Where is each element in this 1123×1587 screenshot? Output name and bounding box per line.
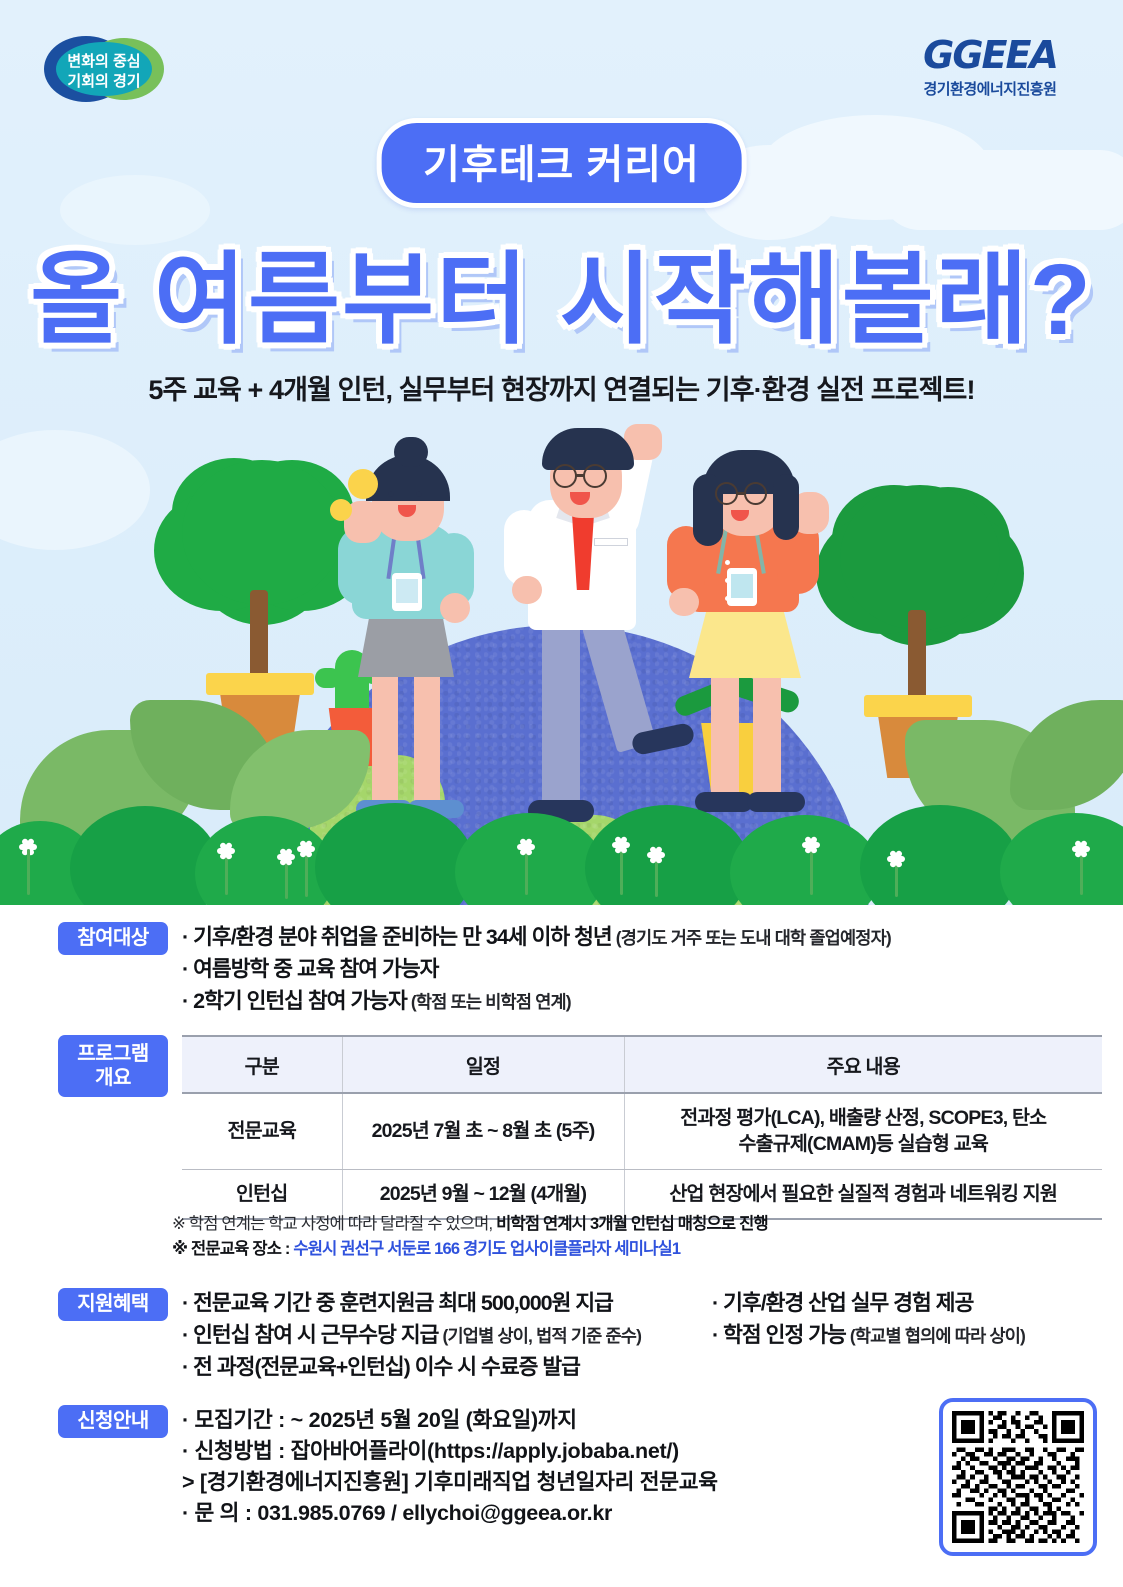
glasses-icon [583,464,607,488]
list-item-note: (기업별 상이, 법적 기준 준수) [438,1326,641,1346]
flower-icon [886,849,906,869]
illustration [0,400,1123,905]
list-item: · 기후/환경 분야 취업을 준비하는 만 34세 이하 청년 (경기도 거주 … [182,922,891,954]
flower-icon [216,841,236,861]
list-item: · 인턴십 참여 시 근무수당 지급 (기업별 상이, 법적 기준 준수) [182,1320,712,1352]
flower-icon [1071,839,1091,859]
section-apply: 신청안내 · 모집기간 : ~ 2025년 5월 20일 (화요일)까지 · 신… [58,1405,718,1529]
benefit-column-right: · 기후/환경 산업 실무 경험 제공 · 학점 인정 가능 (학교별 협의에 … [712,1288,1025,1384]
flower-icon [646,845,666,865]
hero-badge: 기후테크 커리어 [376,118,747,208]
coin-icon [348,469,378,499]
table-row: 전문교육 2025년 7월 초 ~ 8월 초 (5주) 전과정 평가(LCA),… [182,1093,1102,1169]
cell-content: 전과정 평가(LCA), 배출량 산정, SCOPE3, 탄소 수출규제(CMA… [624,1093,1102,1169]
list-item-contact[interactable]: · 문 의 : 031.985.0769 / ellychoi@ggeea.or… [182,1498,718,1529]
note1-prefix: ※ 학점 연계는 학교 사정에 따라 달라질 수 있으며, [172,1215,496,1233]
table-header-row: 구분 일정 주요 내용 [182,1036,1102,1093]
glasses-icon [553,464,577,488]
flower-icon [296,839,316,859]
list-item-note: (학점 또는 비학점 연계) [407,992,571,1012]
section-tag-apply: 신청안내 [58,1405,168,1438]
qr-code[interactable] [939,1398,1097,1556]
list-item-apply-url[interactable]: · 신청방법 : 잡아바어플라이(https://apply.jobaba.ne… [182,1436,718,1467]
flower-icon [801,835,821,855]
flower-icon [611,835,631,855]
list-item: · 여름방학 중 교육 참여 가능자 [182,954,891,986]
cell-content-line2: 수출규제(CMAM)등 실습형 교육 [739,1133,988,1155]
ggeea-logo: GGEEA 경기환경에너지진흥원 [895,34,1085,106]
list-item-strong: · 기후/환경 분야 취업을 준비하는 만 34세 이하 청년 [182,925,612,949]
person-illustration-right [665,452,845,817]
section-tag-target: 참여대상 [58,922,168,955]
table-col-schedule: 일정 [342,1036,624,1093]
section-benefit: 지원혜택 · 전문교육 기간 중 훈련지원금 최대 500,000원 지급 · … [58,1288,1025,1384]
note2-location: 수원시 권선구 서둔로 166 경기도 업사이클플라자 세미나실1 [293,1240,680,1258]
section-tag-program: 프로그램 개요 [58,1035,168,1097]
list-item: · 모집기간 : ~ 2025년 5월 20일 (화요일)까지 [182,1405,718,1436]
list-item-note: (경기도 거주 또는 도내 대학 졸업예정자) [612,928,891,948]
program-table: 구분 일정 주요 내용 전문교육 2025년 7월 초 ~ 8월 초 (5주) … [182,1035,1102,1220]
page-title: 올 여름부터 시작해볼래? [0,218,1123,363]
program-table-wrap: 구분 일정 주요 내용 전문교육 2025년 7월 초 ~ 8월 초 (5주) … [168,1035,1102,1220]
coin-icon [330,499,352,521]
list-item-note: (학교별 협의에 따라 상이) [846,1326,1025,1346]
glasses-icon [715,482,738,505]
note2-prefix: ※ 전문교육 장소 : [172,1240,293,1258]
section-tag-program-line1: 프로그램 [58,1043,168,1067]
note-line: ※ 전문교육 장소 : 수원시 권선구 서둔로 166 경기도 업사이클플라자 … [172,1237,768,1262]
info-content: 참여대상 · 기후/환경 분야 취업을 준비하는 만 34세 이하 청년 (경기… [0,905,1123,1587]
flower-icon [276,847,296,867]
apply-list: · 모집기간 : ~ 2025년 5월 20일 (화요일)까지 · 신청방법 :… [168,1405,718,1529]
benefit-column-left: · 전문교육 기간 중 훈련지원금 최대 500,000원 지급 · 인턴십 참… [182,1288,712,1384]
list-item: · 2학기 인턴십 참여 가능자 (학점 또는 비학점 연계) [182,986,891,1018]
list-item-strong: · 기후/환경 산업 실무 경험 제공 [712,1291,973,1315]
table-col-gubun: 구분 [182,1036,342,1093]
qr-code-image [952,1411,1084,1543]
list-item: > [경기환경에너지진흥원] 기후미래직업 청년일자리 전문교육 [182,1467,718,1498]
list-item: · 학점 인정 가능 (학교별 협의에 따라 상이) [712,1320,1025,1352]
list-item-strong: · 전 과정(전문교육+인턴십) 이수 시 수료증 발급 [182,1355,580,1379]
ggeea-wordmark: GGEEA [895,34,1085,76]
target-list: · 기후/환경 분야 취업을 준비하는 만 34세 이하 청년 (경기도 거주 … [168,922,891,1018]
list-item-strong: · 인턴십 참여 시 근무수당 지급 [182,1323,438,1347]
list-item-strong: · 전문교육 기간 중 훈련지원금 최대 500,000원 지급 [182,1291,613,1315]
flower-icon [516,837,536,857]
leaf-shape [1010,700,1123,810]
section-target: 참여대상 · 기후/환경 분야 취업을 준비하는 만 34세 이하 청년 (경기… [58,922,891,1018]
gyeonggi-logo-line2: 기회의 경기 [67,72,140,90]
list-item-strong: · 학점 인정 가능 [712,1323,846,1347]
list-item-strong: · 2학기 인턴십 참여 가능자 [182,989,407,1013]
section-tag-program-line2: 개요 [58,1067,168,1091]
hero-banner: 변화의 중심 기회의 경기 GGEEA 경기환경에너지진흥원 기후테크 커리어 … [0,0,1123,905]
cell-schedule: 2025년 7월 초 ~ 8월 초 (5주) [342,1093,624,1169]
section-tag-benefit: 지원혜택 [58,1288,168,1321]
note-line: ※ 학점 연계는 학교 사정에 따라 달라질 수 있으며, 비학점 연계시 3개… [172,1212,768,1237]
section-program: 프로그램 개요 구분 일정 주요 내용 전문교육 2025년 7월 초 ~ 8월… [58,1035,1102,1220]
note1-bold: 비학점 연계시 3개월 인턴십 매칭으로 진행 [496,1215,768,1233]
list-item: · 전문교육 기간 중 훈련지원금 최대 500,000원 지급 [182,1288,712,1320]
ggeea-name: 경기환경에너지진흥원 [895,78,1085,99]
benefit-columns: · 전문교육 기간 중 훈련지원금 최대 500,000원 지급 · 인턴십 참… [168,1288,1025,1384]
list-item: · 전 과정(전문교육+인턴십) 이수 시 수료증 발급 [182,1352,712,1384]
gyeonggi-logo-line1: 변화의 중심 [67,52,140,70]
glasses-icon [744,482,767,505]
program-notes: ※ 학점 연계는 학교 사정에 따라 달라질 수 있으며, 비학점 연계시 3개… [172,1212,768,1262]
bush-row [0,813,1123,905]
gyeonggi-logo: 변화의 중심 기회의 경기 [42,33,167,106]
list-item: · 기후/환경 산업 실무 경험 제공 [712,1288,1025,1320]
list-item-strong: · 여름방학 중 교육 참여 가능자 [182,957,438,981]
table-col-content: 주요 내용 [624,1036,1102,1093]
cell-gubun: 전문교육 [182,1093,342,1169]
person-illustration-left [330,455,500,815]
cell-content-line1: 전과정 평가(LCA), 배출량 산정, SCOPE3, 탄소 [680,1107,1046,1129]
